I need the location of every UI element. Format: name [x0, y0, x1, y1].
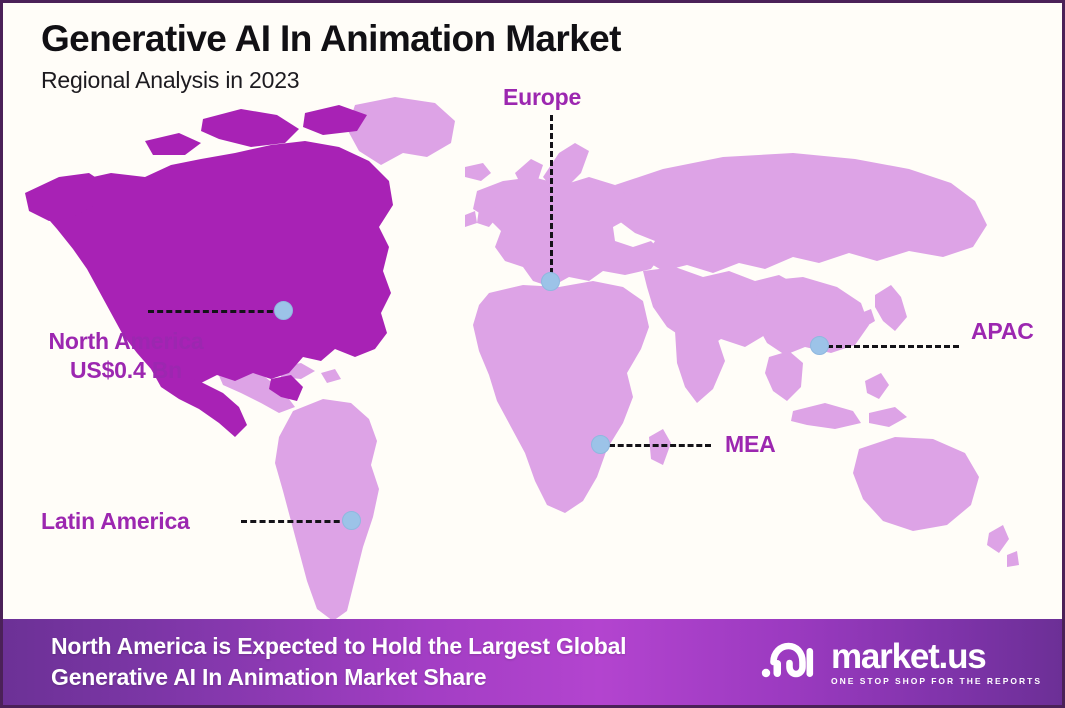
- map-region-north-america: [25, 105, 393, 437]
- map-marker-apac[interactable]: [810, 336, 829, 355]
- callout-mea: MEA: [725, 430, 776, 459]
- leader-line-north-america: [148, 310, 282, 313]
- map-marker-north-america[interactable]: [274, 301, 293, 320]
- banner-headline-line-1: North America is Expected to Hold the La…: [51, 631, 626, 662]
- callout-europe-label: Europe: [503, 84, 581, 110]
- page-title: Generative AI In Animation Market: [41, 17, 861, 61]
- infographic-root: Generative AI In Animation Market Region…: [0, 0, 1065, 708]
- map-marker-latin-america[interactable]: [342, 511, 361, 530]
- map-marker-mea[interactable]: [591, 435, 610, 454]
- bottom-banner: North America is Expected to Hold the La…: [3, 619, 1065, 705]
- callout-apac-label: APAC: [971, 318, 1034, 344]
- leader-line-mea: [609, 444, 711, 447]
- callout-mea-label: MEA: [725, 431, 776, 457]
- logo-tagline: ONE STOP SHOP FOR THE REPORTS: [831, 677, 1042, 686]
- market-us-logo[interactable]: market.us ONE STOP SHOP FOR THE REPORTS: [761, 639, 1042, 686]
- callout-north-america-value: US$0.4 Bn: [21, 356, 231, 385]
- leader-line-europe: [550, 115, 553, 283]
- leader-line-apac: [827, 345, 959, 348]
- banner-headline: North America is Expected to Hold the La…: [51, 631, 626, 693]
- callout-latin-america-label: Latin America: [41, 508, 190, 534]
- callout-europe: Europe: [503, 83, 581, 112]
- callout-latin-america: Latin America: [41, 507, 190, 536]
- callout-north-america: North America US$0.4 Bn: [21, 327, 231, 384]
- banner-headline-line-2: Generative AI In Animation Market Share: [51, 662, 626, 693]
- leader-line-latin-america: [241, 520, 349, 523]
- logo-wordmark: market.us: [831, 639, 986, 674]
- market-us-logo-mark-icon: [761, 640, 819, 684]
- callout-apac: APAC: [971, 317, 1034, 346]
- callout-north-america-label: North America: [48, 328, 203, 354]
- market-us-logo-text: market.us ONE STOP SHOP FOR THE REPORTS: [831, 639, 1042, 686]
- map-marker-europe[interactable]: [541, 272, 560, 291]
